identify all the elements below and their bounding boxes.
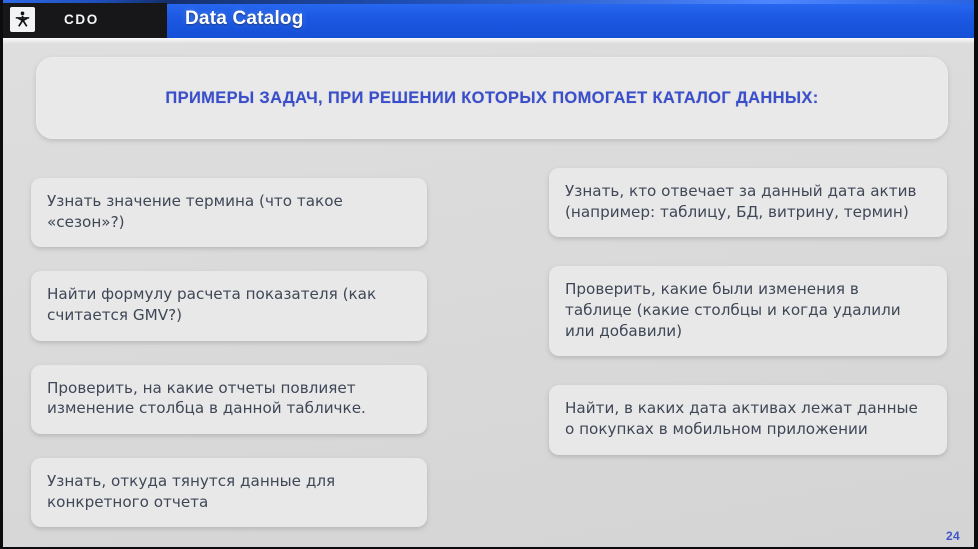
- page-title: ПРИМЕРЫ ЗАДАЧ, ПРИ РЕШЕНИИ КОТОРЫХ ПОМОГ…: [165, 89, 818, 108]
- app-top-bar: CDO Data Catalog: [3, 0, 974, 38]
- brand-section: CDO: [3, 0, 167, 38]
- task-card: Проверить, на какие отчеты повлияет изме…: [31, 365, 427, 434]
- task-card: Узнать, откуда тянутся данные для конкре…: [31, 458, 427, 527]
- task-card: Проверить, какие были изменения в таблиц…: [549, 266, 947, 356]
- brand-label: CDO: [64, 12, 99, 27]
- task-list-right: Узнать, кто отвечает за данный дата акти…: [549, 168, 947, 455]
- slide-page-number: 24: [946, 529, 960, 543]
- slide-title-banner: ПРИМЕРЫ ЗАДАЧ, ПРИ РЕШЕНИИ КОТОРЫХ ПОМОГ…: [36, 57, 948, 139]
- slide-content: ПРИМЕРЫ ЗАДАЧ, ПРИ РЕШЕНИИ КОТОРЫХ ПОМОГ…: [3, 38, 974, 547]
- task-card: Найти, в каких дата активах лежат данные…: [549, 385, 947, 454]
- task-card: Найти формулу расчета показателя (как сч…: [31, 271, 427, 340]
- task-card: Узнать значение термина (что такое «сезо…: [31, 178, 427, 247]
- app-title-section: Data Catalog: [167, 0, 974, 38]
- cdo-figure-logo-icon: [10, 7, 35, 32]
- app-title: Data Catalog: [185, 8, 304, 30]
- task-list-left: Узнать значение термина (что такое «сезо…: [31, 178, 427, 527]
- presentation-slide: CDO Data Catalog ПРИМЕРЫ ЗАДАЧ, ПРИ РЕШЕ…: [0, 0, 978, 549]
- task-card: Узнать, кто отвечает за данный дата акти…: [549, 168, 947, 237]
